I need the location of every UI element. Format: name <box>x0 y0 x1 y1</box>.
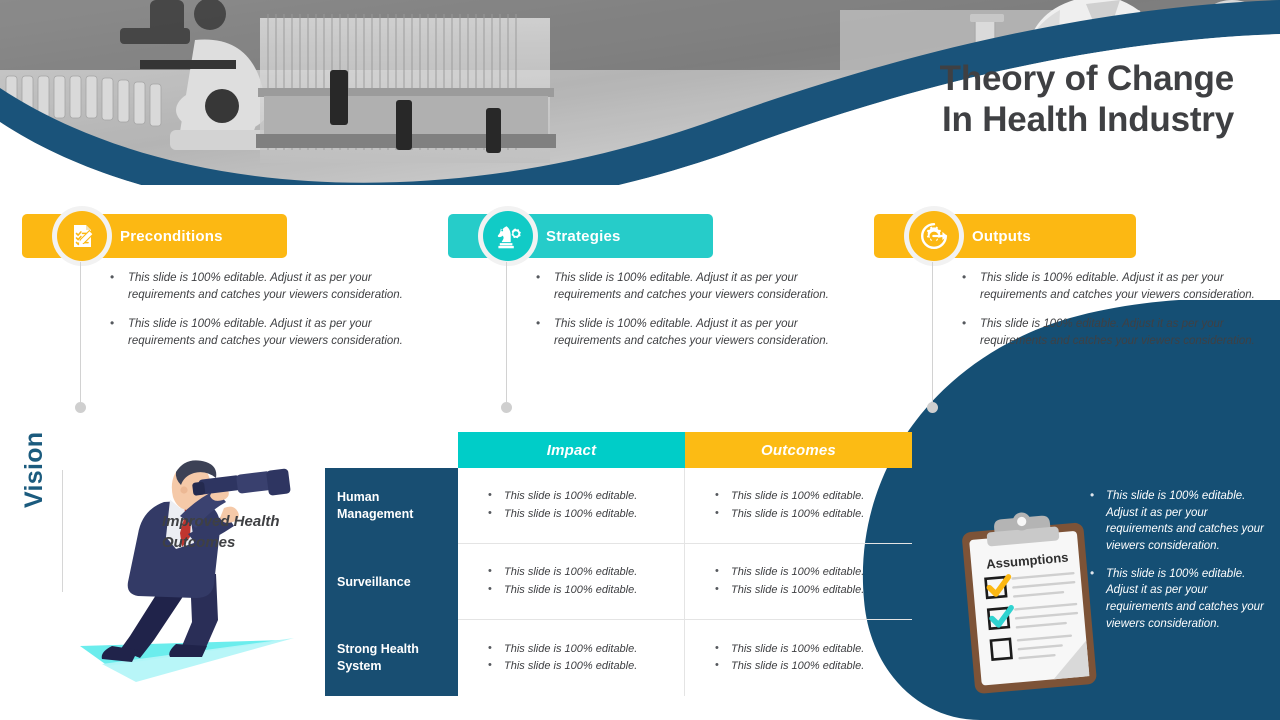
strategies-label: Strategies <box>546 228 621 245</box>
cell-impact: This slide is 100% editable. This slide … <box>458 468 685 543</box>
pillar-strategies: Strategies This slide is 100% editable. … <box>448 214 848 258</box>
preconditions-connector-line <box>80 262 81 402</box>
outputs-connector-dot <box>927 402 938 413</box>
list-item: This slide is 100% editable. Adjust it a… <box>958 270 1258 304</box>
cell-bullet: This slide is 100% editable. <box>715 564 912 581</box>
title-line-2: In Health Industry <box>714 99 1234 140</box>
table-body: Human Management Surveillance Strong Hea… <box>325 468 912 696</box>
row-label: Human Management <box>325 468 458 544</box>
preconditions-badge[interactable]: Preconditions <box>22 214 287 258</box>
strategies-icon-ring <box>478 206 538 266</box>
preconditions-bullets: This slide is 100% editable. Adjust it a… <box>106 270 406 362</box>
chess-knight-gear-icon <box>483 211 533 261</box>
slide-canvas: Preconditions This slide is 100% editabl… <box>0 0 1280 720</box>
list-item: This slide is 100% editable. Adjust it a… <box>1086 566 1272 633</box>
column-header-outcomes: Outcomes <box>685 432 912 468</box>
strategies-connector-line <box>506 262 507 402</box>
table-row: This slide is 100% editable. This slide … <box>458 544 912 620</box>
cell-bullet: This slide is 100% editable. <box>715 641 912 658</box>
cell-outcomes: This slide is 100% editable. This slide … <box>685 620 912 696</box>
column-header-impact: Impact <box>458 432 685 468</box>
pillar-preconditions: Preconditions This slide is 100% editabl… <box>22 214 422 258</box>
table-row: This slide is 100% editable. This slide … <box>458 620 912 696</box>
cell-bullet: This slide is 100% editable. <box>488 564 684 581</box>
vision-block: Vision <box>24 452 324 700</box>
outputs-icon-ring <box>904 206 964 266</box>
page-title: Theory of Change In Health Industry <box>714 58 1234 141</box>
cell-bullet: This slide is 100% editable. <box>715 582 912 599</box>
preconditions-icon-ring <box>52 206 112 266</box>
cell-bullet: This slide is 100% editable. <box>715 658 912 675</box>
vision-divider <box>62 470 63 592</box>
gear-arrow-icon <box>909 211 959 261</box>
vision-label: Vision <box>20 432 49 508</box>
outputs-label: Outputs <box>972 228 1031 245</box>
cell-bullet: This slide is 100% editable. <box>488 582 684 599</box>
list-item: This slide is 100% editable. Adjust it a… <box>532 270 832 304</box>
vision-caption: Improved Health Outcomes <box>162 512 312 553</box>
cell-bullet: This slide is 100% editable. <box>715 488 912 505</box>
assumptions-bullets: This slide is 100% editable. Adjust it a… <box>1086 488 1272 643</box>
outputs-connector-line <box>932 262 933 402</box>
row-label: Strong Health System <box>325 620 458 696</box>
pillar-outputs: Outputs This slide is 100% editable. Adj… <box>874 214 1274 258</box>
preconditions-connector-dot <box>75 402 86 413</box>
list-item: This slide is 100% editable. Adjust it a… <box>106 316 406 350</box>
cell-bullet: This slide is 100% editable. <box>715 506 912 523</box>
checklist-pencil-icon <box>57 211 107 261</box>
cell-bullet: This slide is 100% editable. <box>488 641 684 658</box>
cell-bullet: This slide is 100% editable. <box>488 488 684 505</box>
outputs-bullets: This slide is 100% editable. Adjust it a… <box>958 270 1258 362</box>
businessman-telescope-illustration <box>72 450 302 682</box>
cell-bullet: This slide is 100% editable. <box>488 506 684 523</box>
table-header-row: Impact Outcomes <box>458 432 912 468</box>
list-item: This slide is 100% editable. Adjust it a… <box>1086 488 1272 555</box>
cell-outcomes: This slide is 100% editable. This slide … <box>685 468 912 543</box>
title-line-1: Theory of Change <box>714 58 1234 99</box>
strategies-bullets: This slide is 100% editable. Adjust it a… <box>532 270 832 362</box>
table-cells-grid: This slide is 100% editable. This slide … <box>458 468 912 696</box>
row-label: Surveillance <box>325 544 458 620</box>
outputs-badge[interactable]: Outputs <box>874 214 1136 258</box>
cell-impact: This slide is 100% editable. This slide … <box>458 544 685 619</box>
cell-impact: This slide is 100% editable. This slide … <box>458 620 685 696</box>
cell-outcomes: This slide is 100% editable. This slide … <box>685 544 912 619</box>
preconditions-label: Preconditions <box>120 228 223 245</box>
strategies-badge[interactable]: Strategies <box>448 214 713 258</box>
pillars-row: Preconditions This slide is 100% editabl… <box>0 214 1280 414</box>
table-row: This slide is 100% editable. This slide … <box>458 468 912 544</box>
table-row-labels: Human Management Surveillance Strong Hea… <box>325 468 458 696</box>
list-item: This slide is 100% editable. Adjust it a… <box>958 316 1258 350</box>
list-item: This slide is 100% editable. Adjust it a… <box>106 270 406 304</box>
list-item: This slide is 100% editable. Adjust it a… <box>532 316 832 350</box>
cell-bullet: This slide is 100% editable. <box>488 658 684 675</box>
strategies-connector-dot <box>501 402 512 413</box>
